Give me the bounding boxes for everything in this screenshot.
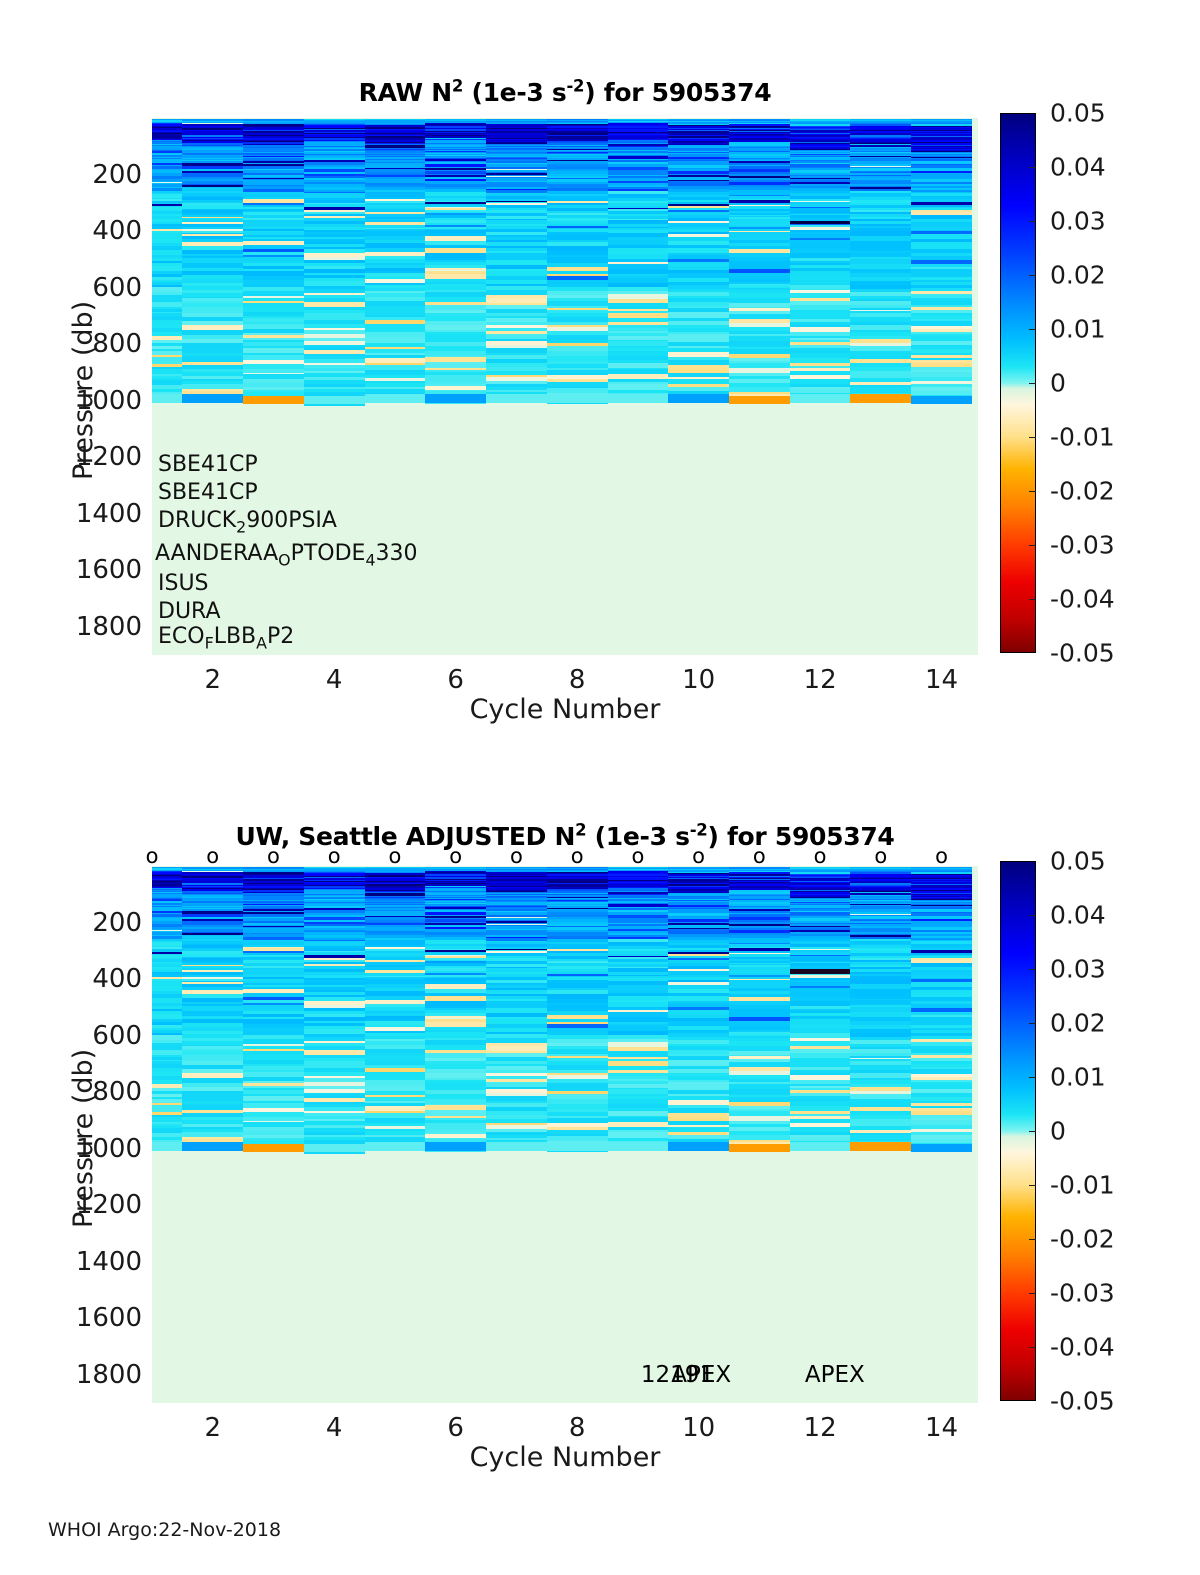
annotation-text-2: PTODE <box>291 541 366 566</box>
heatmap-accent-line <box>425 175 486 177</box>
heatmap-accent-line <box>608 144 669 146</box>
heatmap-accent-line <box>608 904 669 907</box>
heatmap-accent-line <box>365 916 426 917</box>
heatmap-accent-line <box>790 897 851 898</box>
annotation-text-3: 330 <box>376 541 418 566</box>
x-tick-label: 2 <box>204 665 221 695</box>
heatmap-accent-line <box>790 888 851 890</box>
y-tick-label: 200 <box>0 908 142 938</box>
heatmap-accent-line <box>729 161 790 163</box>
heatmap-column <box>243 118 304 655</box>
heatmap-accent-line <box>729 924 790 925</box>
heatmap-accent-line <box>911 885 972 888</box>
heatmap-column <box>365 118 426 655</box>
x-tick-label: 8 <box>569 1413 586 1443</box>
annotation-sbe41cp-1: SBE41CP <box>158 454 258 476</box>
annotation-text: DRUCK <box>158 508 236 533</box>
y-tick-label: 1800 <box>0 1360 142 1390</box>
heatmap-column <box>850 866 911 1403</box>
heatmap-accent-line <box>547 137 608 138</box>
y-tick-label: 1400 <box>0 1247 142 1277</box>
colorbar-tick-label: -0.03 <box>1050 531 1115 560</box>
heatmap-bottom-band <box>182 394 243 402</box>
cycle-marker-icon: o <box>449 844 462 868</box>
annotation-text: ECO <box>158 624 205 649</box>
heatmap-accent-line <box>729 949 790 951</box>
colorbar-tick-mark <box>1029 915 1036 916</box>
heatmap-accent-line <box>425 202 486 204</box>
colorbar-tick-mark <box>1029 1239 1036 1240</box>
adjusted-axes-area: 12191APEXAPEX <box>152 866 978 1403</box>
heatmap-bottom-band <box>304 1144 365 1152</box>
heatmap-accent-line <box>850 156 911 157</box>
colorbar-tick-label: 0.02 <box>1050 261 1106 290</box>
adjusted-x-axis-label: Cycle Number <box>470 1442 661 1473</box>
heatmap-accent-line <box>790 930 851 932</box>
colorbar-tick-mark <box>1029 969 1036 970</box>
heatmap-bottom-band <box>425 394 486 402</box>
heatmap-accent-line <box>668 952 729 954</box>
heatmap-bottom-band <box>365 394 426 402</box>
heatmap-bottom-band <box>790 394 851 402</box>
heatmap-bottom-band <box>668 1142 729 1150</box>
cycle-marker-icon: o <box>267 844 280 868</box>
colorbar-tick-mark <box>1029 599 1036 600</box>
heatmap-bottom-band <box>243 396 304 404</box>
heatmap-accent-line <box>668 889 729 891</box>
heatmap-column <box>608 118 669 655</box>
heatmap-accent-line <box>729 909 790 911</box>
heatmap-accent-line <box>425 950 486 952</box>
cycle-marker-icon: o <box>692 844 705 868</box>
heatmap-column <box>668 118 729 655</box>
annotation-text-3: P2 <box>267 624 294 649</box>
y-tick-label: 200 <box>0 160 142 190</box>
colorbar-tick-label: -0.01 <box>1050 423 1115 452</box>
colorbar-tick-mark <box>1029 1293 1036 1294</box>
footer-credit: WHOI Argo:22-Nov-2018 <box>48 1519 281 1541</box>
adjusted-y-axis-label: Pressure (db) <box>68 1049 99 1228</box>
heatmap-accent-line <box>668 180 729 181</box>
heatmap-column <box>425 118 486 655</box>
platform-label: APEX <box>671 1362 731 1388</box>
heatmap-accent-line <box>152 952 182 954</box>
annotation-text-2: LBB <box>214 624 256 649</box>
colorbar-tick-label: 0.05 <box>1050 847 1106 876</box>
annotation-sub: O <box>278 550 290 569</box>
annotation-sub: F <box>205 633 214 652</box>
heatmap-accent-line <box>304 908 365 910</box>
heatmap-accent-line <box>425 159 486 160</box>
annotation-sub-2: 4 <box>365 550 375 569</box>
heatmap-accent-line <box>608 892 669 894</box>
heatmap-bottom-band <box>790 1142 851 1150</box>
heatmap-accent-line <box>790 149 851 150</box>
heatmap-bottom-band <box>911 396 972 404</box>
heatmap-accent-line <box>850 935 911 937</box>
x-tick-label: 12 <box>804 665 837 695</box>
x-tick-label: 6 <box>447 1413 464 1443</box>
heatmap-column <box>790 118 851 655</box>
heatmap-accent-line <box>608 956 669 957</box>
raw-title-sup-1: 2 <box>452 77 463 96</box>
colorbar-tick-mark <box>1029 1347 1036 1348</box>
heatmap-accent-line <box>790 178 851 179</box>
heatmap-accent-line <box>365 168 426 169</box>
raw-plot-title: RAW N2 (1e-3 s-2) for 5905374 <box>152 78 978 107</box>
colorbar-tick-mark <box>1029 491 1036 492</box>
heatmap-column <box>790 866 851 1403</box>
colorbar-tick-label: -0.04 <box>1050 1333 1115 1362</box>
heatmap-accent-line <box>668 928 729 929</box>
x-tick-label: 4 <box>326 1413 343 1443</box>
colorbar-tick-label: 0.04 <box>1050 901 1106 930</box>
platform-label: APEX <box>805 1362 865 1388</box>
heatmap-bottom-band <box>486 394 547 402</box>
annotation-text: ISUS <box>158 571 209 596</box>
x-tick-label: 14 <box>925 665 958 695</box>
colorbar-tick-label: -0.05 <box>1050 1387 1115 1416</box>
annotation-eco: ECOFLBBAP2 <box>158 626 294 648</box>
heatmap-accent-line <box>668 923 729 925</box>
annotation-sbe41cp-2: SBE41CP <box>158 482 258 504</box>
heatmap-accent-line <box>850 893 911 894</box>
x-tick-label: 14 <box>925 1413 958 1443</box>
colorbar-tick-mark <box>1029 329 1036 330</box>
heatmap-accent-line <box>243 909 304 911</box>
cycle-marker-icon: o <box>874 844 887 868</box>
colorbar-tick-label: -0.02 <box>1050 477 1115 506</box>
heatmap-column <box>365 866 426 1403</box>
colorbar-tick-label: -0.01 <box>1050 1171 1115 1200</box>
heatmap-column <box>911 118 972 655</box>
adjusted-title-prefix: UW, Seattle ADJUSTED N <box>235 822 575 851</box>
annotation-text: AANDERAA <box>155 541 278 566</box>
heatmap-accent-line <box>608 208 669 209</box>
heatmap-accent-line <box>547 160 608 161</box>
heatmap-bottom-band <box>152 1142 182 1150</box>
annotation-sub-2: A <box>256 633 267 652</box>
heatmap-accent-line <box>425 907 486 908</box>
colorbar-tick-mark <box>1029 275 1036 276</box>
colorbar-tick-mark <box>1029 167 1036 168</box>
heatmap-accent-line <box>668 175 729 177</box>
heatmap-bottom-band <box>850 1142 911 1150</box>
y-tick-label: 1600 <box>0 1303 142 1333</box>
heatmap-column <box>729 866 790 1403</box>
heatmap-column <box>850 118 911 655</box>
heatmap-column <box>304 866 365 1403</box>
colorbar-tick-mark <box>1029 437 1036 438</box>
x-tick-label: 6 <box>447 665 464 695</box>
adjusted-heatmap <box>152 866 978 1403</box>
heatmap-accent-line <box>365 893 426 896</box>
colorbar-tick-label: 0.03 <box>1050 207 1106 236</box>
heatmap-column <box>547 866 608 1403</box>
raw-title-sup-2: -2 <box>566 77 584 96</box>
heatmap-accent-line <box>243 164 304 165</box>
heatmap-column <box>911 866 972 1403</box>
heatmap-bottom-band <box>547 394 608 402</box>
heatmap-accent-line <box>729 176 790 177</box>
heatmap-column <box>486 866 547 1403</box>
colorbar-tick-mark <box>1029 1077 1036 1078</box>
heatmap-accent-line <box>365 145 426 148</box>
colorbar-tick-label: -0.02 <box>1050 1225 1115 1254</box>
colorbar-tick-mark <box>1029 383 1036 384</box>
heatmap-accent-line <box>182 163 243 166</box>
heatmap-accent-line <box>486 201 547 203</box>
heatmap-column <box>486 118 547 655</box>
colorbar-tick-label: 0 <box>1050 369 1066 398</box>
x-tick-label: 8 <box>569 665 586 695</box>
heatmap-bottom-band <box>547 1142 608 1150</box>
heatmap-accent-line <box>911 202 972 204</box>
heatmap-accent-line <box>608 156 669 159</box>
heatmap-bottom-band <box>365 1142 426 1150</box>
heatmap-accent-line <box>850 904 911 905</box>
colorbar-tick-label: 0.03 <box>1050 955 1106 984</box>
annotation-sub: 2 <box>236 517 246 536</box>
heatmap-bottom-band <box>152 394 182 402</box>
colorbar-tick-label: -0.04 <box>1050 585 1115 614</box>
x-tick-label: 4 <box>326 665 343 695</box>
y-tick-label: 1800 <box>0 612 142 642</box>
heatmap-accent-line <box>152 885 182 886</box>
heatmap-accent-line <box>790 926 851 927</box>
heatmap-column <box>304 118 365 655</box>
heatmap-accent-line <box>486 173 547 175</box>
heatmap-column <box>547 118 608 655</box>
cycle-marker-icon: o <box>206 844 219 868</box>
cycle-marker-icon: o <box>146 844 159 868</box>
heatmap-accent-line <box>304 207 365 208</box>
heatmap-anomaly-band <box>790 969 851 974</box>
annotation-text: SBE41CP <box>158 480 258 505</box>
cycle-marker-icon: o <box>753 844 766 868</box>
heatmap-bottom-band <box>425 1142 486 1150</box>
raw-title-suffix: ) for 5905374 <box>584 78 771 107</box>
heatmap-accent-line <box>486 921 547 923</box>
colorbar-tick-label: -0.03 <box>1050 1279 1115 1308</box>
annotation-text-2: 900PSIA <box>246 508 337 533</box>
heatmap-bottom-band <box>486 1142 547 1150</box>
y-tick-label: 1600 <box>0 555 142 585</box>
heatmap-accent-line <box>547 149 608 150</box>
raw-heatmap <box>152 118 978 655</box>
raw-title-mid: (1e-3 s <box>463 78 566 107</box>
annotation-isus: ISUS <box>158 573 209 595</box>
heatmap-accent-line <box>182 171 243 174</box>
heatmap-accent-line <box>911 137 972 140</box>
heatmap-accent-line <box>790 140 851 142</box>
heatmap-bottom-band <box>182 1142 243 1150</box>
cycle-marker-icon: o <box>631 844 644 868</box>
x-tick-label: 10 <box>682 1413 715 1443</box>
colorbar-tick-label: 0.02 <box>1050 1009 1106 1038</box>
heatmap-accent-line <box>911 950 972 952</box>
heatmap-accent-line <box>243 926 304 927</box>
adjusted-title-suffix: ) for 5905374 <box>707 822 894 851</box>
heatmap-accent-line <box>668 141 729 143</box>
heatmap-accent-line <box>243 912 304 913</box>
y-tick-label: 1400 <box>0 499 142 529</box>
colorbar-tick-mark <box>1029 221 1036 222</box>
raw-x-axis-label: Cycle Number <box>470 694 661 725</box>
colorbar-tick-mark <box>1029 1185 1036 1186</box>
annotation-druck: DRUCK2900PSIA <box>158 510 337 532</box>
heatmap-accent-line <box>152 137 182 138</box>
heatmap-accent-line <box>547 897 608 898</box>
heatmap-accent-line <box>850 187 911 189</box>
heatmap-column <box>182 866 243 1403</box>
heatmap-column <box>152 866 182 1403</box>
heatmap-accent-line <box>911 157 972 158</box>
colorbar-tick-label: 0.05 <box>1050 99 1106 128</box>
heatmap-accent-line <box>304 955 365 956</box>
heatmap-accent-line <box>790 182 851 184</box>
heatmap-bottom-band <box>608 1142 669 1150</box>
heatmap-column <box>243 866 304 1403</box>
y-tick-label: 600 <box>0 273 142 303</box>
colorbar-tick-mark <box>1029 1023 1036 1024</box>
heatmap-accent-line <box>243 178 304 179</box>
x-tick-label: 10 <box>682 665 715 695</box>
colorbar-tick-label: -0.05 <box>1050 639 1115 668</box>
colorbar-tick-mark <box>1029 1131 1036 1132</box>
x-tick-label: 2 <box>204 1413 221 1443</box>
heatmap-accent-line <box>243 161 304 163</box>
heatmap-accent-line <box>911 905 972 906</box>
cycle-marker-icon: o <box>328 844 341 868</box>
heatmap-column <box>425 866 486 1403</box>
heatmap-bottom-band <box>850 394 911 402</box>
heatmap-accent-line <box>182 933 243 935</box>
raw-y-axis-label: Pressure (db) <box>68 301 99 480</box>
adjusted-title-sup-1: 2 <box>575 821 586 840</box>
adjusted-title-sup-2: -2 <box>690 821 708 840</box>
heatmap-accent-line <box>182 911 243 914</box>
heatmap-bottom-band <box>668 394 729 402</box>
raw-title-prefix: RAW N <box>359 78 452 107</box>
colorbar-tick-label: 0 <box>1050 1117 1066 1146</box>
heatmap-column <box>608 866 669 1403</box>
annotation-dura: DURA <box>158 601 221 623</box>
cycle-marker-icon: o <box>814 844 827 868</box>
colorbar-tick-mark <box>1029 545 1036 546</box>
heatmap-column <box>668 866 729 1403</box>
heatmap-accent-line <box>729 201 790 203</box>
colorbar-tick-label: 0.01 <box>1050 315 1106 344</box>
annotation-aanderaa: AANDERAAOPTODE4330 <box>155 543 418 565</box>
annotation-text: SBE41CP <box>158 452 258 477</box>
y-tick-label: 600 <box>0 1021 142 1051</box>
heatmap-column <box>729 118 790 655</box>
heatmap-bottom-band <box>304 396 365 404</box>
raw-axes-area: SBE41CP SBE41CP DRUCK2900PSIA AANDERAAOP… <box>152 118 978 655</box>
heatmap-bottom-band <box>608 394 669 402</box>
cycle-marker-icon: o <box>935 844 948 868</box>
heatmap-bottom-band <box>729 396 790 404</box>
heatmap-bottom-band <box>911 1144 972 1152</box>
heatmap-accent-line <box>182 919 243 922</box>
cycle-marker-icon: o <box>571 844 584 868</box>
heatmap-accent-line <box>425 168 486 170</box>
x-tick-label: 12 <box>804 1413 837 1443</box>
heatmap-accent-line <box>304 160 365 162</box>
heatmap-bottom-band <box>729 1144 790 1152</box>
colorbar-tick-label: 0.01 <box>1050 1063 1106 1092</box>
heatmap-accent-line <box>425 916 486 918</box>
heatmap-accent-line <box>486 949 547 951</box>
heatmap-accent-line <box>547 885 608 886</box>
heatmap-accent-line <box>182 185 243 187</box>
cycle-marker-icon: o <box>510 844 523 868</box>
colorbar-tick-label: 0.04 <box>1050 153 1106 182</box>
heatmap-accent-line <box>850 145 911 146</box>
heatmap-accent-line <box>152 204 182 206</box>
heatmap-accent-line <box>547 908 608 909</box>
cycle-marker-icon: o <box>389 844 402 868</box>
y-tick-label: 400 <box>0 964 142 994</box>
heatmap-anomaly-band <box>790 221 851 224</box>
annotation-text: DURA <box>158 599 221 624</box>
heatmap-accent-line <box>425 923 486 925</box>
heatmap-bottom-band <box>243 1144 304 1152</box>
y-tick-label: 400 <box>0 216 142 246</box>
heatmap-accent-line <box>668 204 729 206</box>
